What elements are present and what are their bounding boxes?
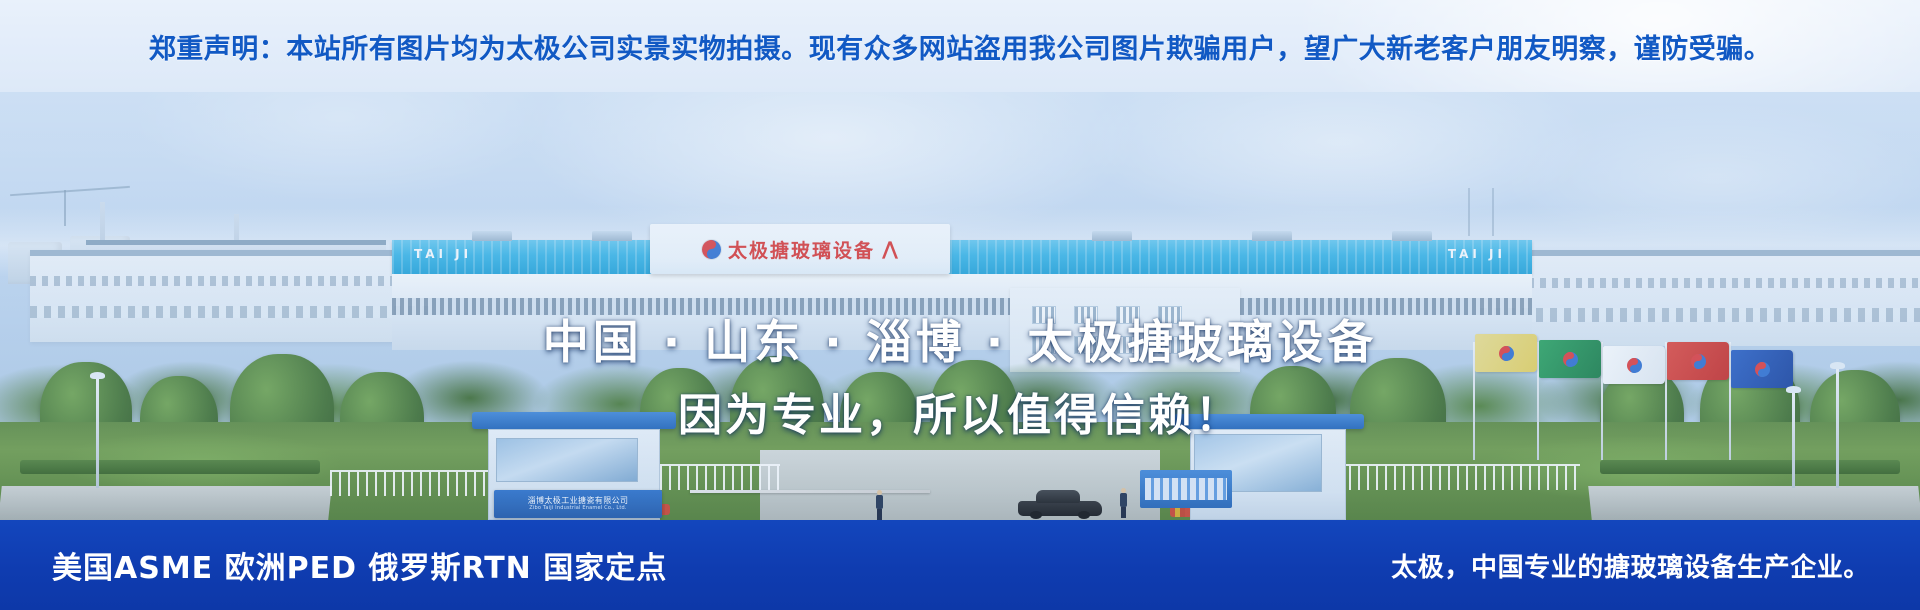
- flag-blue: [1731, 350, 1793, 388]
- hedge-row: [1600, 460, 1900, 474]
- main-factory-hall: TAI JI TAI JI 太极搪玻璃设备 ⋀: [392, 240, 1532, 350]
- road-left: [0, 486, 332, 520]
- gate-barrier-arm: [690, 490, 930, 493]
- notice-text: 郑重声明：本站所有图片均为太极公司实景实物拍摄。现有众多网站盗用我公司图片欺骗用…: [149, 27, 1772, 66]
- street-light: [1792, 392, 1795, 488]
- fascia-label-right: TAI JI: [1448, 247, 1506, 261]
- taiji-logo-icon: [702, 240, 721, 259]
- left-gatehouse: 淄博太极工业搪瓷有限公司 Zibo Taiji Industrial Ename…: [480, 412, 668, 520]
- roof-vent: [1092, 231, 1132, 241]
- tagline-text: 太极，中国专业的搪玻璃设备生产企业。: [1391, 547, 1870, 584]
- fascia-label-left: TAI JI: [414, 247, 472, 261]
- gate-sign-en: Zibo Taiji Industrial Enamel Co., Ltd.: [529, 505, 626, 511]
- flag-yellow: [1475, 334, 1537, 372]
- roof-vent: [1252, 231, 1292, 241]
- banner-page: 郑重声明：本站所有图片均为太极公司实景实物拍摄。现有众多网站盗用我公司图片欺骗用…: [0, 0, 1920, 610]
- hero-photo: TAI JI TAI JI 太极搪玻璃设备 ⋀: [0, 92, 1920, 520]
- bottom-credentials-bar: 美国ASME 欧洲PED 俄罗斯RTN 国家定点 太极，中国专业的搪玻璃设备生产…: [0, 520, 1920, 610]
- roof-vent: [1392, 231, 1432, 241]
- flag-white: [1603, 346, 1665, 384]
- black-car: [1018, 490, 1102, 516]
- crane-mast: [64, 190, 66, 226]
- hedge-row: [20, 460, 320, 474]
- left-factory-building: [30, 250, 430, 342]
- white-fence: [1340, 464, 1580, 490]
- security-guard: [876, 490, 883, 520]
- flag-red: [1667, 342, 1729, 380]
- hall-upper-wall: [392, 274, 1532, 298]
- flag-green: [1539, 340, 1601, 378]
- roof-vent: [472, 231, 512, 241]
- sign-chevron-icon: ⋀: [882, 240, 898, 259]
- blue-gate-cabinet: [1140, 470, 1232, 508]
- power-pylon: [1468, 188, 1470, 236]
- street-light: [1836, 368, 1839, 488]
- company-signboard: 太极搪玻璃设备 ⋀: [650, 224, 950, 274]
- street-light: [96, 378, 99, 488]
- hall-louver-strip: [392, 298, 1532, 315]
- flag-row: [1455, 330, 1785, 460]
- certifications-text: 美国ASME 欧洲PED 俄罗斯RTN 国家定点: [52, 543, 667, 587]
- roof-vent: [592, 231, 632, 241]
- road-right: [1588, 486, 1920, 520]
- gate-sign-cn: 淄博太极工业搪瓷有限公司: [528, 497, 629, 506]
- white-fence: [660, 464, 780, 490]
- security-guard: [1120, 488, 1127, 518]
- company-sign-text: 太极搪玻璃设备: [728, 236, 875, 263]
- roof-fascia-band: TAI JI TAI JI: [392, 240, 1532, 274]
- top-notice-bar: 郑重声明：本站所有图片均为太极公司实景实物拍摄。现有众多网站盗用我公司图片欺骗用…: [0, 0, 1920, 92]
- gate-signboard: 淄博太极工业搪瓷有限公司 Zibo Taiji Industrial Ename…: [494, 490, 662, 518]
- power-pylon: [1492, 188, 1494, 236]
